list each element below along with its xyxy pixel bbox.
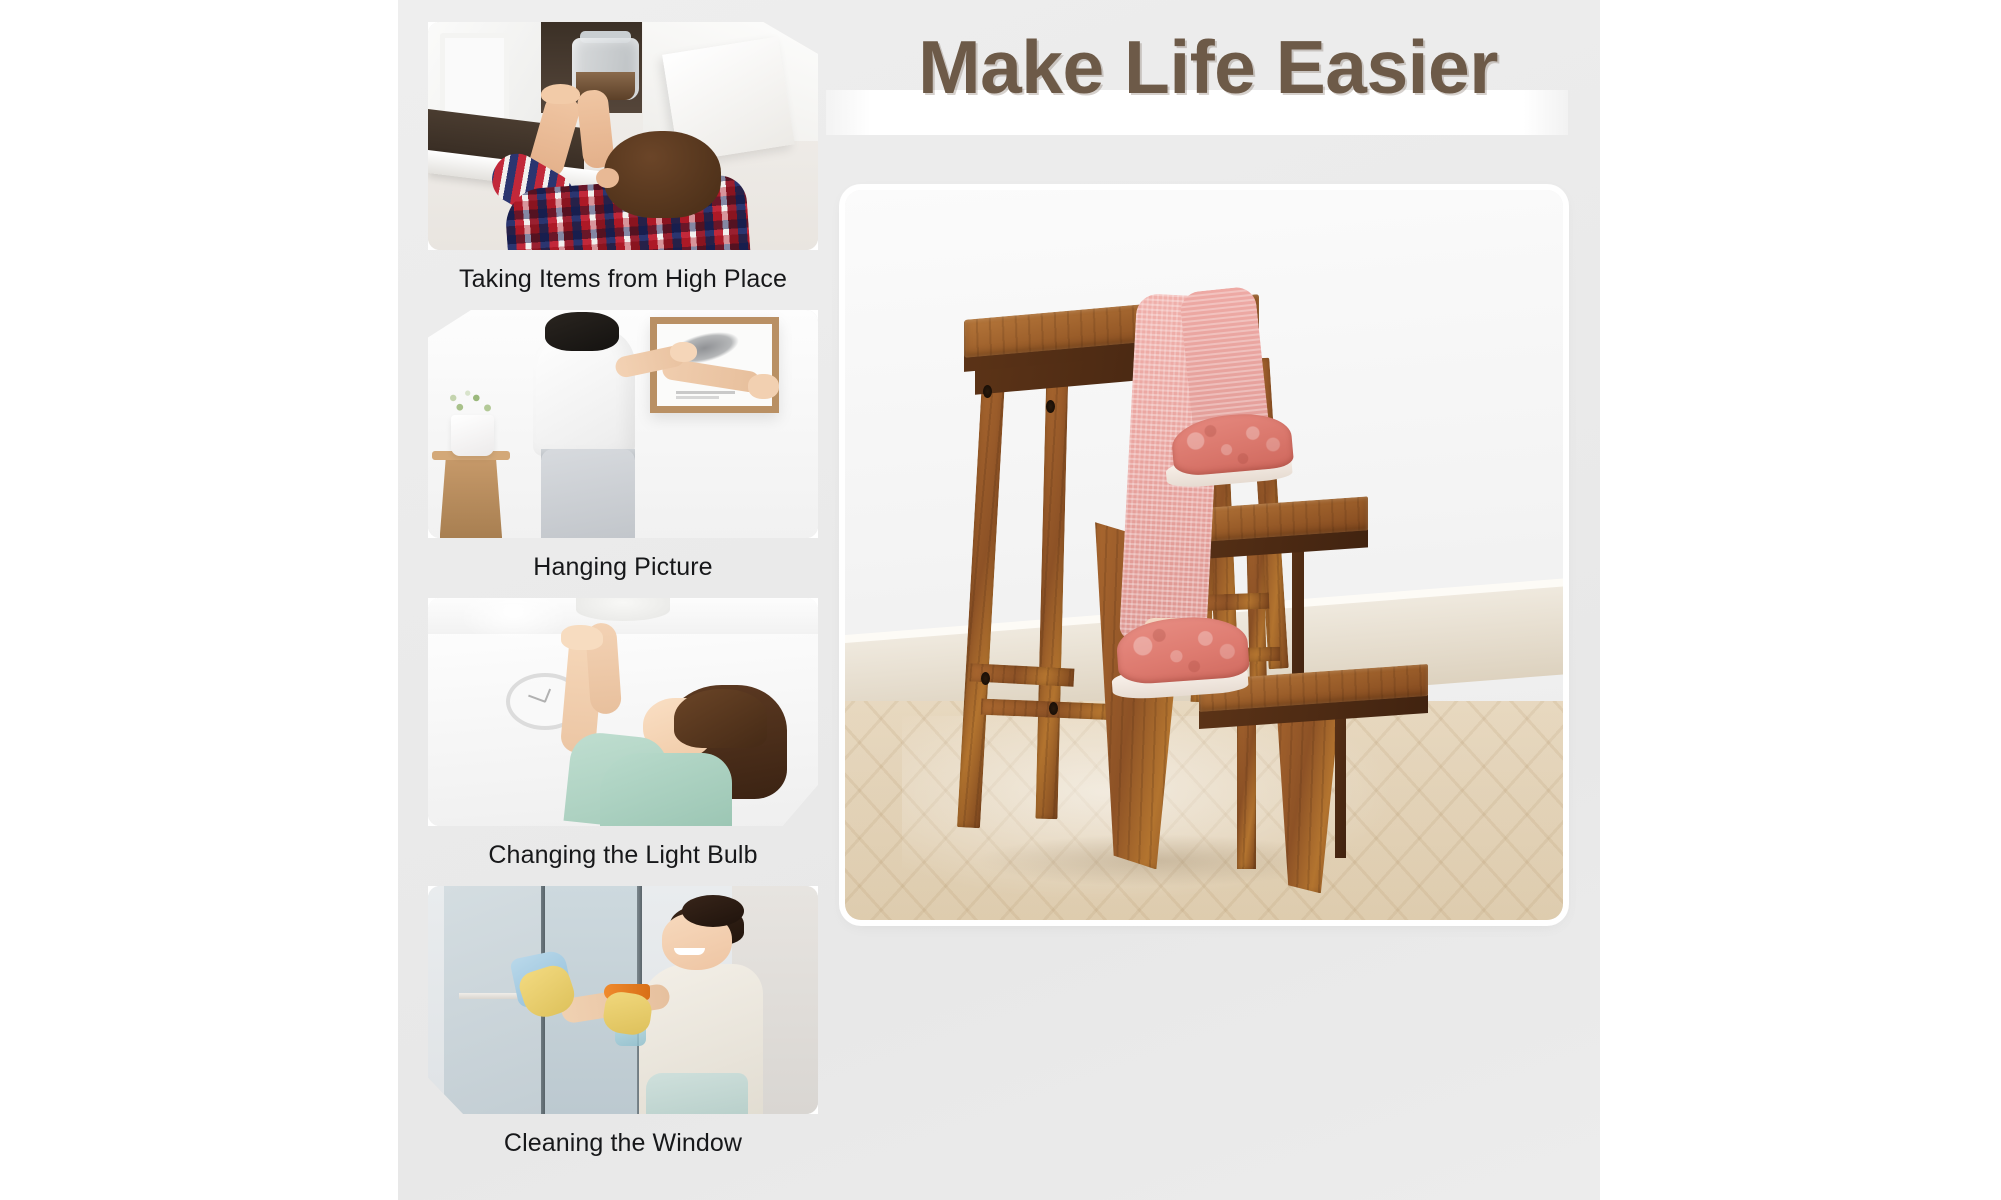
screw-dot — [981, 672, 990, 685]
feature-thumbnail-wrap — [428, 886, 818, 1114]
scene-light-bulb — [428, 598, 818, 826]
stool-low-leg — [1237, 702, 1256, 870]
screw-dot — [1046, 400, 1055, 413]
feature-caption: Changing the Light Bulb — [428, 826, 818, 886]
feature-caption: Taking Items from High Place — [428, 250, 818, 310]
hero-column: Make Life Easier — [838, 0, 1578, 1200]
thumbnail-changing-the-light-bulb[interactable] — [428, 598, 818, 826]
screw-dot — [1049, 702, 1058, 715]
step-stool — [910, 307, 1456, 906]
thumbnail-hanging-picture[interactable] — [428, 310, 818, 538]
thumbnail-cleaning-the-window[interactable] — [428, 886, 818, 1114]
thumbnail-taking-items-from-high-place[interactable] — [428, 22, 818, 250]
feature-item: Changing the Light Bulb — [428, 598, 818, 886]
feature-caption: Hanging Picture — [428, 538, 818, 598]
feature-item: Cleaning the Window — [428, 886, 818, 1174]
page-title: Make Life Easier — [838, 24, 1578, 110]
scene-hanging-picture — [428, 310, 818, 538]
hero-product-image[interactable] — [845, 190, 1563, 920]
stool-leg-left-back — [1035, 363, 1068, 818]
feature-thumbnail-wrap — [428, 310, 818, 538]
screw-dot — [983, 385, 992, 398]
infographic-page: Taking Items from High Place — [0, 0, 2001, 1200]
stool-leg-left — [957, 360, 1006, 827]
scene-kitchen-cabinet — [428, 22, 818, 250]
feature-thumbnail-wrap — [428, 598, 818, 826]
feature-thumbnail-wrap — [428, 22, 818, 250]
feature-list: Taking Items from High Place — [428, 22, 818, 1182]
feature-item: Hanging Picture — [428, 310, 818, 598]
scene-cleaning-window — [428, 886, 818, 1114]
feature-item: Taking Items from High Place — [428, 22, 818, 310]
infographic-canvas: Taking Items from High Place — [398, 0, 1600, 1200]
feature-caption: Cleaning the Window — [428, 1114, 818, 1174]
